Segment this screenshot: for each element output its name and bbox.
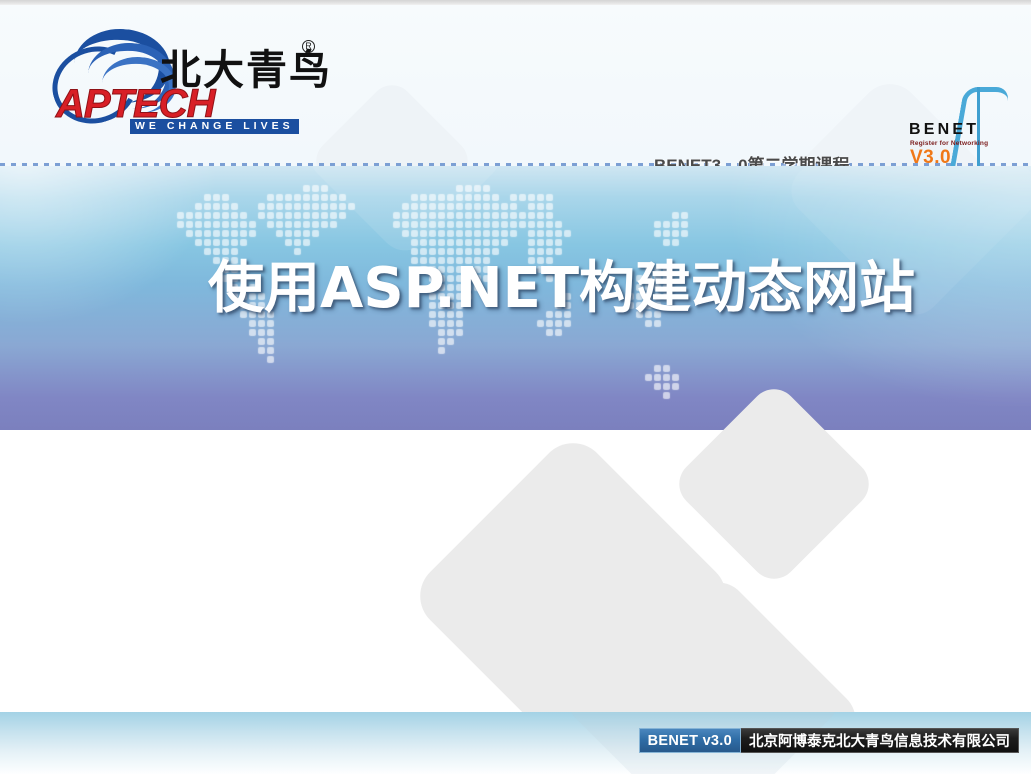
- footer-badge-group: BENET v3.0 北京阿博泰克北大青鸟信息技术有限公司: [639, 728, 1019, 753]
- header-diamond-watermark-1: [307, 76, 477, 166]
- slide-header: 北大青鸟 R APTECH WE CHANGE LIVES BENET3、0第二…: [0, 5, 1031, 166]
- registered-trademark-icon: R: [302, 37, 315, 53]
- aptech-logo: 北大青鸟 R APTECH WE CHANGE LIVES: [34, 27, 314, 127]
- footer-company-badge: 北京阿博泰克北大青鸟信息技术有限公司: [741, 728, 1019, 753]
- slide-footer: BENET v3.0 北京阿博泰克北大青鸟信息技术有限公司: [0, 712, 1031, 774]
- benet-logo-version: V3.0: [910, 147, 951, 166]
- benet-logo-name: BENET: [909, 121, 979, 139]
- course-label: BENET3、0第二学期课程: [654, 151, 850, 166]
- slide-root: 北大青鸟 R APTECH WE CHANGE LIVES BENET3、0第二…: [0, 0, 1031, 774]
- benet-logo: BENET Register for Networking V3.0: [905, 89, 1015, 166]
- benet-logo-subtitle: Register for Networking: [910, 140, 988, 147]
- aptech-tagline: WE CHANGE LIVES: [130, 119, 299, 134]
- footer-benet-badge: BENET v3.0: [639, 728, 741, 753]
- slide-title: 使用ASP.NET构建动态网站: [0, 252, 1031, 326]
